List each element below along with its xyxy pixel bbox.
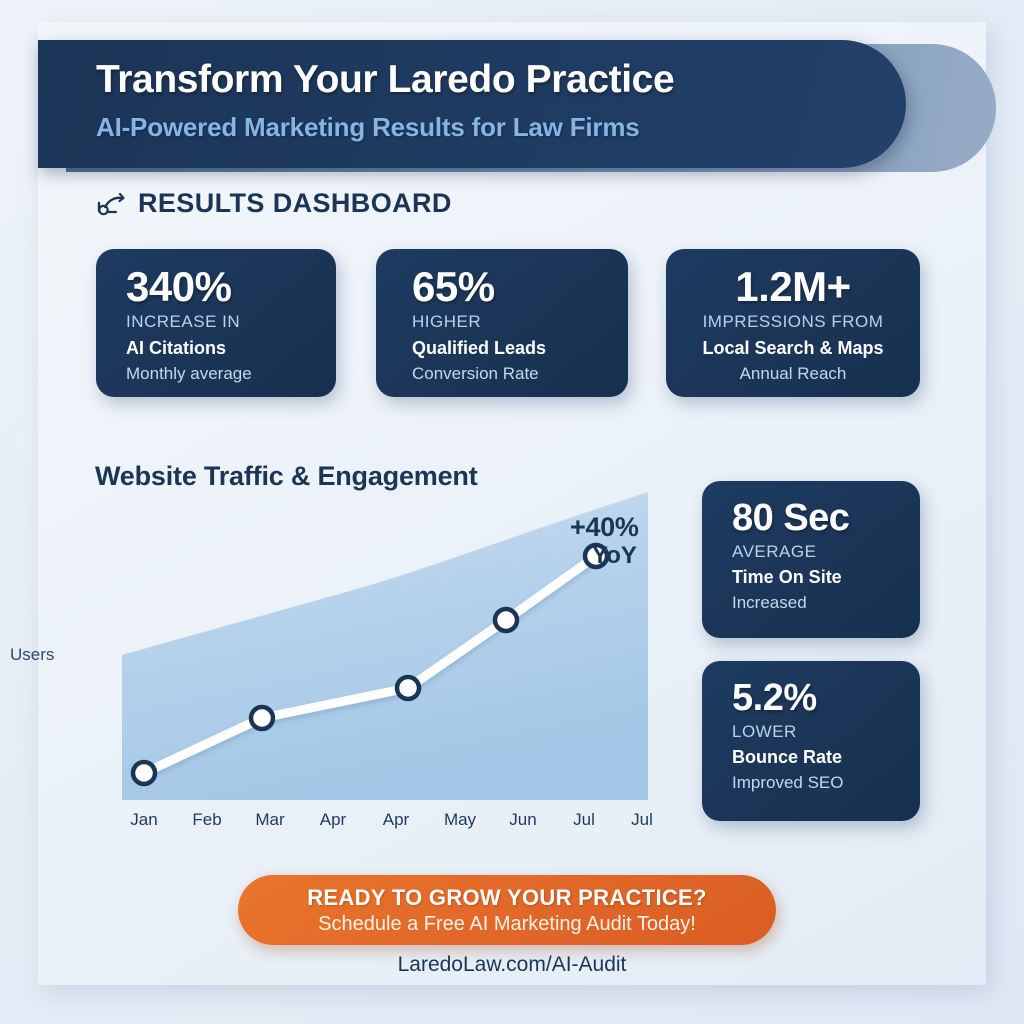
stat-label-secondary: Local Search & Maps — [676, 335, 910, 361]
infographic-root: Transform Your Laredo Practice AI-Powere… — [0, 0, 1024, 1024]
chart-y-axis-label: Users — [10, 645, 54, 665]
section-heading: RESULTS DASHBOARD — [96, 188, 452, 219]
stat-label-tertiary: Annual Reach — [676, 361, 910, 387]
chart-x-tick: Apr — [320, 810, 346, 830]
stat-card: 65% HIGHER Qualified Leads Conversion Ra… — [376, 249, 628, 397]
stat-label-primary: IMPRESSIONS FROM — [676, 309, 910, 335]
chart-x-tick: Apr — [383, 810, 409, 830]
stat-value: 1.2M+ — [676, 265, 910, 309]
chart-x-tick: Jun — [509, 810, 536, 830]
chart-x-tick: Jul — [573, 810, 595, 830]
page-title: Transform Your Laredo Practice — [96, 58, 674, 102]
chart-x-tick: May — [444, 810, 476, 830]
stat-card: 5.2% LOWER Bounce Rate Improved SEO — [702, 661, 920, 821]
chart-annotation-value: +40% — [570, 512, 639, 543]
stat-label-primary: AVERAGE — [732, 539, 920, 565]
stat-value: 340% — [126, 265, 336, 309]
chart-x-tick: Jan — [130, 810, 157, 830]
stat-label-primary: HIGHER — [412, 309, 628, 335]
stat-card: 340% INCREASE IN AI Citations Monthly av… — [96, 249, 336, 397]
chart-data-point — [133, 762, 155, 784]
header-band: Transform Your Laredo Practice AI-Powere… — [38, 40, 906, 168]
stat-card: 1.2M+ IMPRESSIONS FROM Local Search & Ma… — [666, 249, 920, 397]
cta-button[interactable]: READY TO GROW YOUR PRACTICE? Schedule a … — [238, 875, 776, 945]
growth-chart-icon — [96, 191, 126, 217]
stat-label-secondary: AI Citations — [126, 335, 336, 361]
stat-label-primary: INCREASE IN — [126, 309, 336, 335]
cta-subtitle: Schedule a Free AI Marketing Audit Today… — [318, 913, 696, 936]
cta-url: LaredoLaw.com/AI-Audit — [0, 953, 1024, 977]
cta-title: READY TO GROW YOUR PRACTICE? — [307, 885, 707, 911]
stat-value: 65% — [412, 265, 628, 309]
stat-label-primary: LOWER — [732, 719, 920, 745]
chart-annotation-label: YoY — [592, 542, 637, 570]
stat-card: 80 Sec AVERAGE Time On Site Increased — [702, 481, 920, 638]
stat-label-secondary: Qualified Leads — [412, 335, 628, 361]
page-subtitle: AI-Powered Marketing Results for Law Fir… — [96, 112, 640, 143]
stat-label-tertiary: Improved SEO — [732, 770, 920, 796]
stat-value: 5.2% — [732, 679, 920, 719]
stat-value: 80 Sec — [732, 499, 920, 539]
chart-data-point — [495, 609, 517, 631]
stat-label-tertiary: Conversion Rate — [412, 361, 628, 387]
chart-x-tick: Feb — [192, 810, 221, 830]
stat-label-tertiary: Increased — [732, 590, 920, 616]
stat-label-secondary: Time On Site — [732, 564, 920, 590]
section-title: RESULTS DASHBOARD — [138, 188, 452, 219]
header-banner: Transform Your Laredo Practice AI-Powere… — [38, 40, 968, 168]
stat-label-tertiary: Monthly average — [126, 361, 336, 387]
chart-x-tick: Mar — [255, 810, 284, 830]
chart-data-point — [397, 677, 419, 699]
chart-data-point — [251, 707, 273, 729]
stat-label-secondary: Bounce Rate — [732, 744, 920, 770]
chart-x-tick: Jul — [631, 810, 653, 830]
